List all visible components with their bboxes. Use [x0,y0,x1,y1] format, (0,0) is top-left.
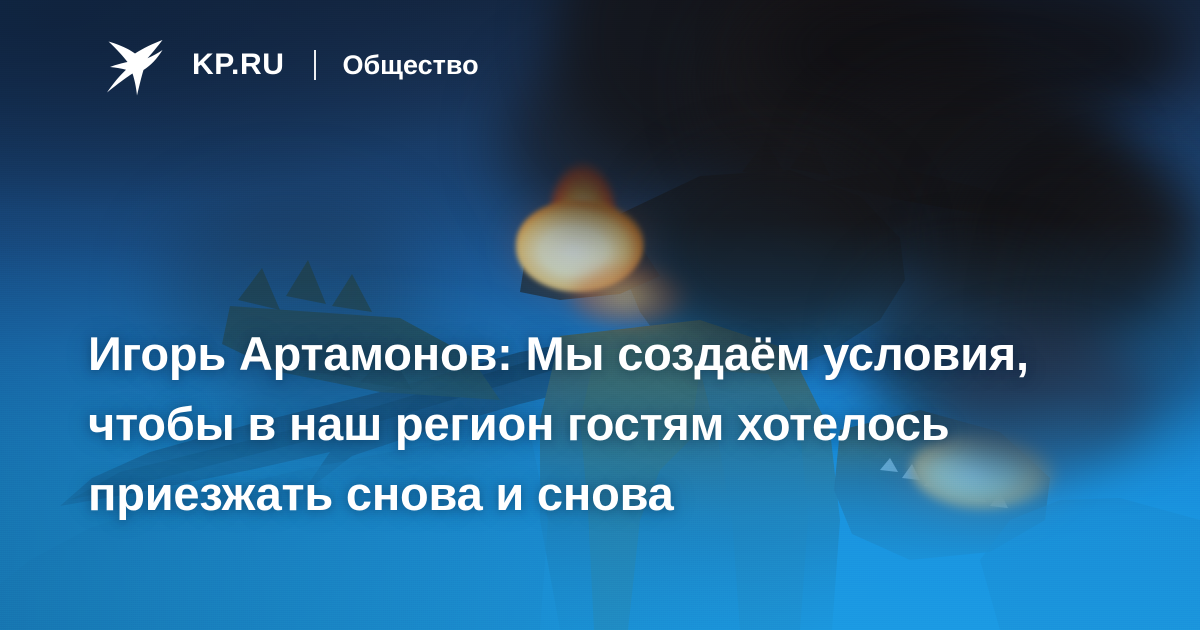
headline-title: Игорь Артамонов: Мы создаём условия, что… [88,319,1078,529]
site-header: KP.RU Общество [98,34,479,96]
swallow-bird-logo-icon[interactable] [98,34,164,96]
header-separator [314,50,316,80]
rubric-label[interactable]: Общество [342,52,478,79]
social-share-card: KP.RU Общество Игорь Артамонов: Мы созда… [0,0,1200,630]
brand-label[interactable]: KP.RU [192,50,284,80]
